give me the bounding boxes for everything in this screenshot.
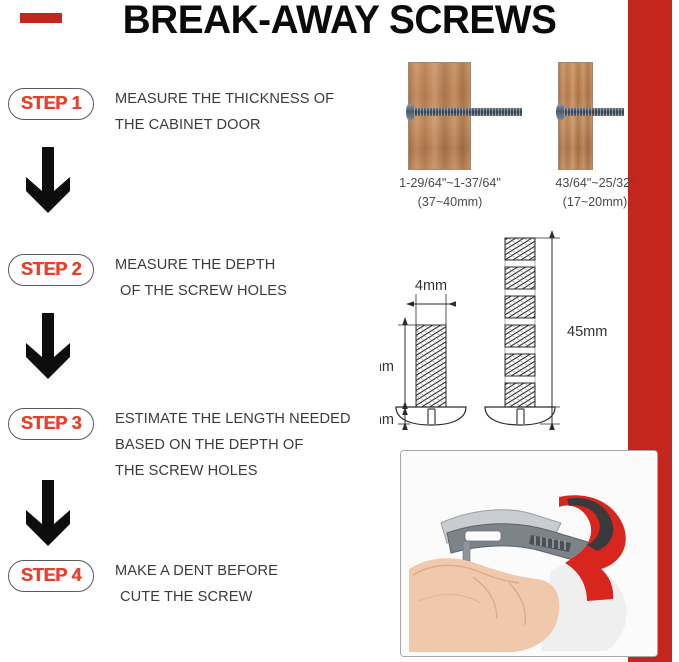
svg-text:45mm: 45mm [567, 324, 607, 340]
step-badge-1: STEP 1 [8, 88, 94, 120]
step-4-line-1: MAKE A DENT BEFORE [115, 558, 377, 584]
down-arrow-icon-3 [26, 480, 70, 546]
step-1-line-2: THE CABINET DOOR [115, 112, 377, 138]
thin-board-inches: 43/64"~25/32" [520, 174, 670, 193]
svg-text:28mm: 28mm [380, 359, 394, 375]
screw-shaft-icon [564, 108, 624, 116]
screw-through-thick-board-icon [406, 104, 522, 120]
svg-text:4mm: 4mm [415, 278, 447, 294]
step-3-line-3: THE SCREW HOLES [115, 458, 377, 484]
down-arrow-icon-2 [26, 313, 70, 379]
thin-board-measurement: 43/64"~25/32" (17~20mm) [520, 174, 670, 212]
thin-board-metric: (17~20mm) [520, 193, 670, 212]
step-description-1: MEASURE THE THICKNESS OF THE CABINET DOO… [115, 86, 377, 138]
step-badge-3: STEP 3 [8, 408, 94, 440]
step-3-line-2: BASED ON THE DEPTH OF [115, 432, 377, 458]
screw-shaft-icon [414, 108, 522, 116]
thick-board-metric: (37~40mm) [375, 193, 525, 212]
down-arrow-icon-1 [26, 147, 70, 213]
thick-board-inches: 1-29/64"~1-37/64" [375, 174, 525, 193]
thick-board-measurement: 1-29/64"~1-37/64" (37~40mm) [375, 174, 525, 212]
svg-text:2.2mm: 2.2mm [380, 412, 394, 428]
step-description-4: MAKE A DENT BEFORE CUTE THE SCREW [115, 558, 377, 610]
step-3-line-1: ESTIMATE THE LENGTH NEEDED [115, 406, 377, 432]
step-badge-2: STEP 2 [8, 254, 94, 286]
step-badge-4: STEP 4 [8, 560, 94, 592]
step-2-line-2: OF THE SCREW HOLES [115, 278, 377, 304]
steps-column: STEP 1 MEASURE THE THICKNESS OF THE CABI… [0, 0, 380, 662]
illustrations-column: 1-29/64"~1-37/64" (37~40mm) 43/64"~25/32… [380, 0, 679, 662]
screw-dimension-diagram: 4mm 28mm 2.2mm [380, 228, 679, 433]
cabinet-door-thickness-figure: 1-29/64"~1-37/64" (37~40mm) 43/64"~25/32… [380, 56, 679, 226]
step-description-3: ESTIMATE THE LENGTH NEEDED BASED ON THE … [115, 406, 377, 484]
step-2-line-1: MEASURE THE DEPTH [115, 252, 377, 278]
screw-through-thin-board-icon [556, 104, 624, 120]
step-4-line-2: CUTE THE SCREW [115, 584, 377, 610]
pliers-cutting-screw-photo [400, 450, 658, 657]
step-1-line-1: MEASURE THE THICKNESS OF [115, 86, 377, 112]
step-description-2: MEASURE THE DEPTH OF THE SCREW HOLES [115, 252, 377, 304]
